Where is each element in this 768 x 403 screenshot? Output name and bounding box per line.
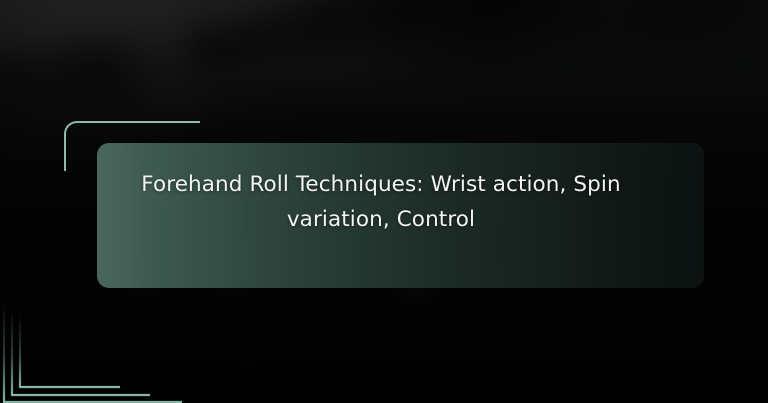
hero-banner-stage: Forehand Roll Techniques: Wrist action, … <box>0 0 768 403</box>
page-title: Forehand Roll Techniques: Wrist action, … <box>121 168 641 238</box>
hero-card-stack: Forehand Roll Techniques: Wrist action, … <box>62 118 707 293</box>
hero-title-card: Forehand Roll Techniques: Wrist action, … <box>72 129 690 277</box>
